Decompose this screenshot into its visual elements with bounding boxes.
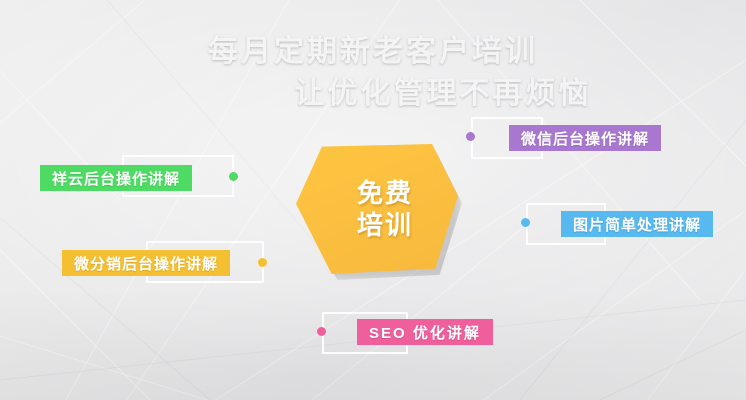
topic-tag-label: 微分销后台操作讲解 <box>74 253 218 274</box>
page-title-line-1: 每月定期新老客户培训 <box>0 26 746 70</box>
topic-tag-label: 图片简单处理讲解 <box>573 214 701 235</box>
hexagon-shape: 免费 培训 <box>296 144 458 274</box>
connector-dot-image-editing <box>521 218 530 227</box>
page-title-line-2: 让优化管理不再烦恼 <box>0 68 746 112</box>
connector-dot-seo <box>317 327 326 336</box>
connector-dot-wechat <box>466 132 475 141</box>
topic-tag-seo[interactable]: SEO 优化讲解 <box>357 319 493 345</box>
promo-banner: 每月定期新老客户培训 让优化管理不再烦恼 免费 培训 祥云后台操作讲解 微信后台… <box>0 0 746 400</box>
topic-tag-wechat[interactable]: 微信后台操作讲解 <box>509 125 661 151</box>
hexagon-label-line-1: 免费 <box>357 177 413 209</box>
hexagon-label-line-2: 培训 <box>357 209 413 241</box>
topic-tag-image-editing[interactable]: 图片简单处理讲解 <box>561 211 713 237</box>
topic-tag-xiangyun[interactable]: 祥云后台操作讲解 <box>40 165 192 191</box>
topic-tag-label: 祥云后台操作讲解 <box>52 168 180 189</box>
topic-tag-label: 微信后台操作讲解 <box>521 128 649 149</box>
connector-dot-weifenxiao <box>258 258 267 267</box>
connector-dot-xiangyun <box>229 172 238 181</box>
free-training-hexagon: 免费 培训 <box>296 144 464 280</box>
topic-tag-weifenxiao[interactable]: 微分销后台操作讲解 <box>62 250 230 276</box>
topic-tag-label: SEO 优化讲解 <box>369 322 481 343</box>
